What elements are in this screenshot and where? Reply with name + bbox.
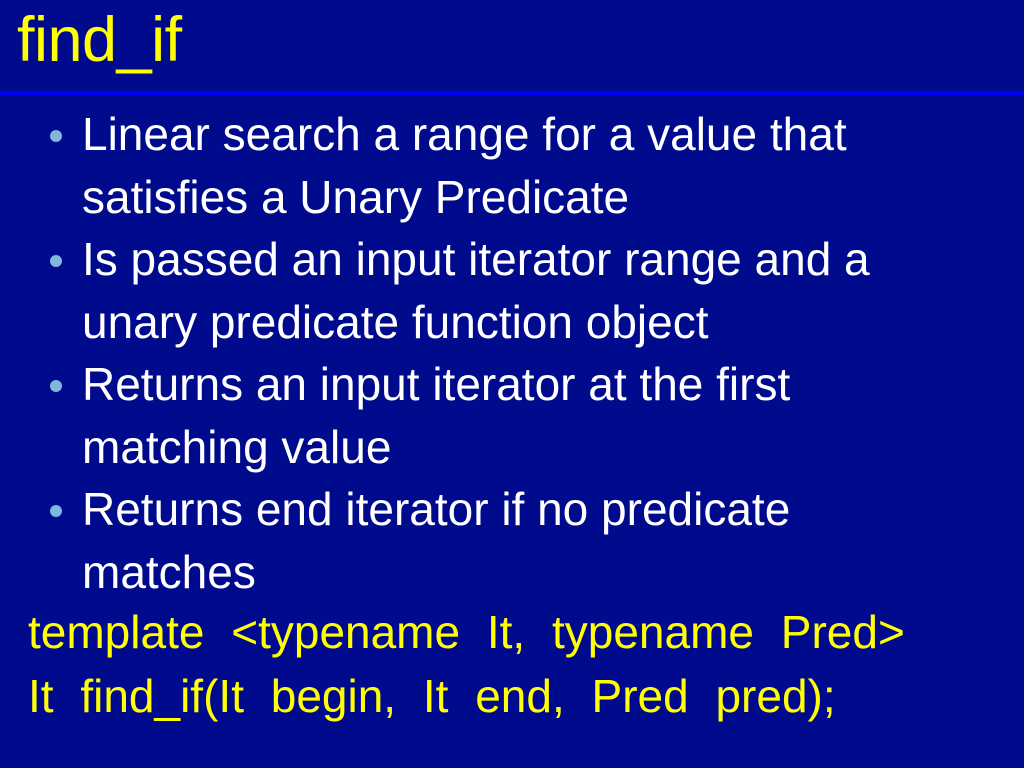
bullet-dot-icon [50,380,62,392]
slide-title-area: find_if [0,0,1024,92]
bullet-dot-icon [50,130,62,142]
bullet-dot-icon [50,255,62,267]
list-item: Returns an input iterator at the first m… [0,353,1024,478]
code-line-declaration: It find_if(It begin, It end, Pred pred); [0,664,1024,728]
list-item: Is passed an input iterator range and a … [0,228,1024,353]
bullet-list: Linear search a range for a value that s… [0,103,1024,603]
list-item: Returns end iterator if no predicate mat… [0,478,1024,603]
code-line-template: template <typename It, typename Pred> [0,600,1024,664]
title-divider [0,91,1024,95]
list-item: Linear search a range for a value that s… [0,103,1024,228]
page-title: find_if [17,0,182,86]
slide-canvas: find_if Linear search a range for a valu… [0,0,1024,768]
list-item-label: Returns end iterator if no predicate mat… [82,478,954,603]
list-item-label: Is passed an input iterator range and a … [82,228,954,353]
list-item-label: Linear search a range for a value that s… [82,103,954,228]
bullet-dot-icon [50,505,62,517]
code-signature-block: template <typename It, typename Pred> It… [0,600,1024,728]
list-item-label: Returns an input iterator at the first m… [82,353,954,478]
